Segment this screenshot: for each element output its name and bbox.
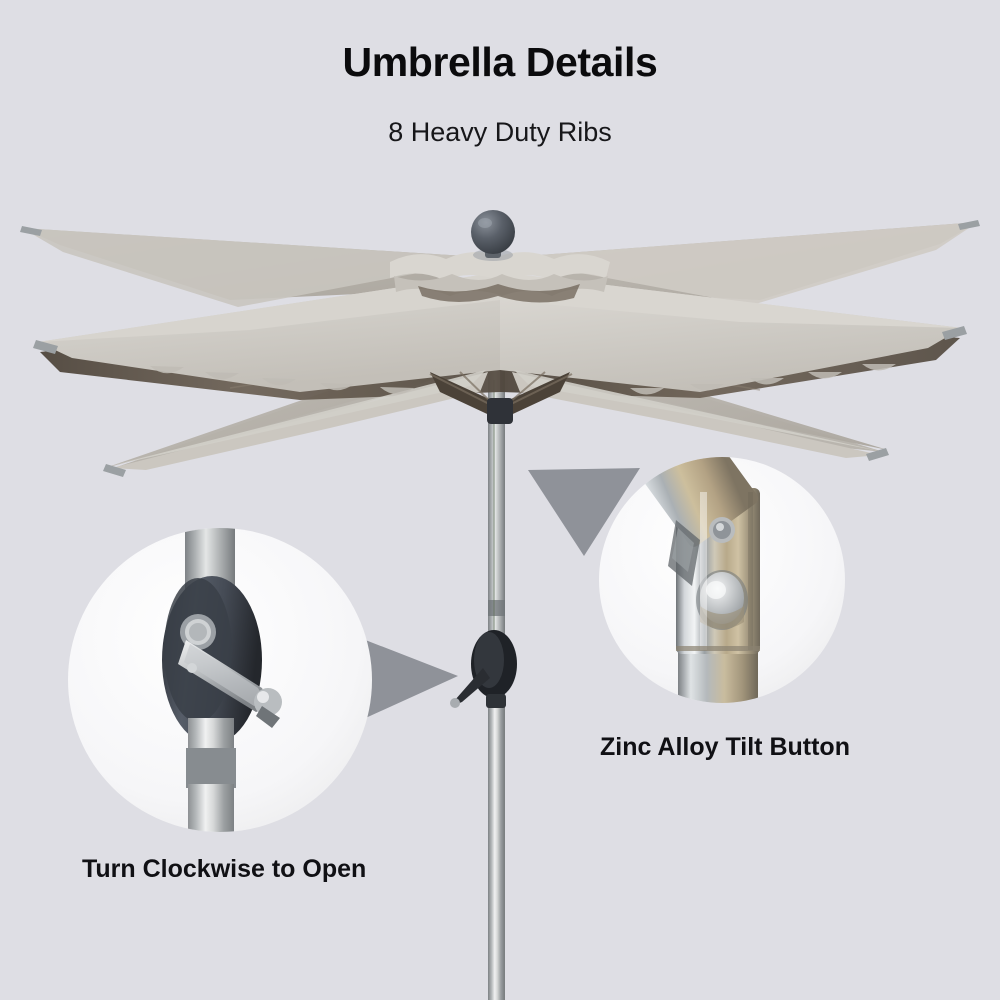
callout-label-crank: Turn Clockwise to Open: [82, 855, 366, 884]
page-subtitle: 8 Heavy Duty Ribs: [0, 118, 1000, 148]
callout-circle-crank: [68, 500, 372, 864]
infographic-canvas: Umbrella Details 8 Heavy Duty Ribs Turn …: [0, 0, 1000, 1000]
umbrella-illustration: [0, 0, 1000, 1000]
finial-ball: [471, 210, 515, 261]
page-title: Umbrella Details: [0, 40, 1000, 85]
callout-label-tilt: Zinc Alloy Tilt Button: [600, 733, 850, 762]
pole-crank-handle: [450, 630, 517, 708]
callout-circle-tilt: [599, 414, 845, 750]
